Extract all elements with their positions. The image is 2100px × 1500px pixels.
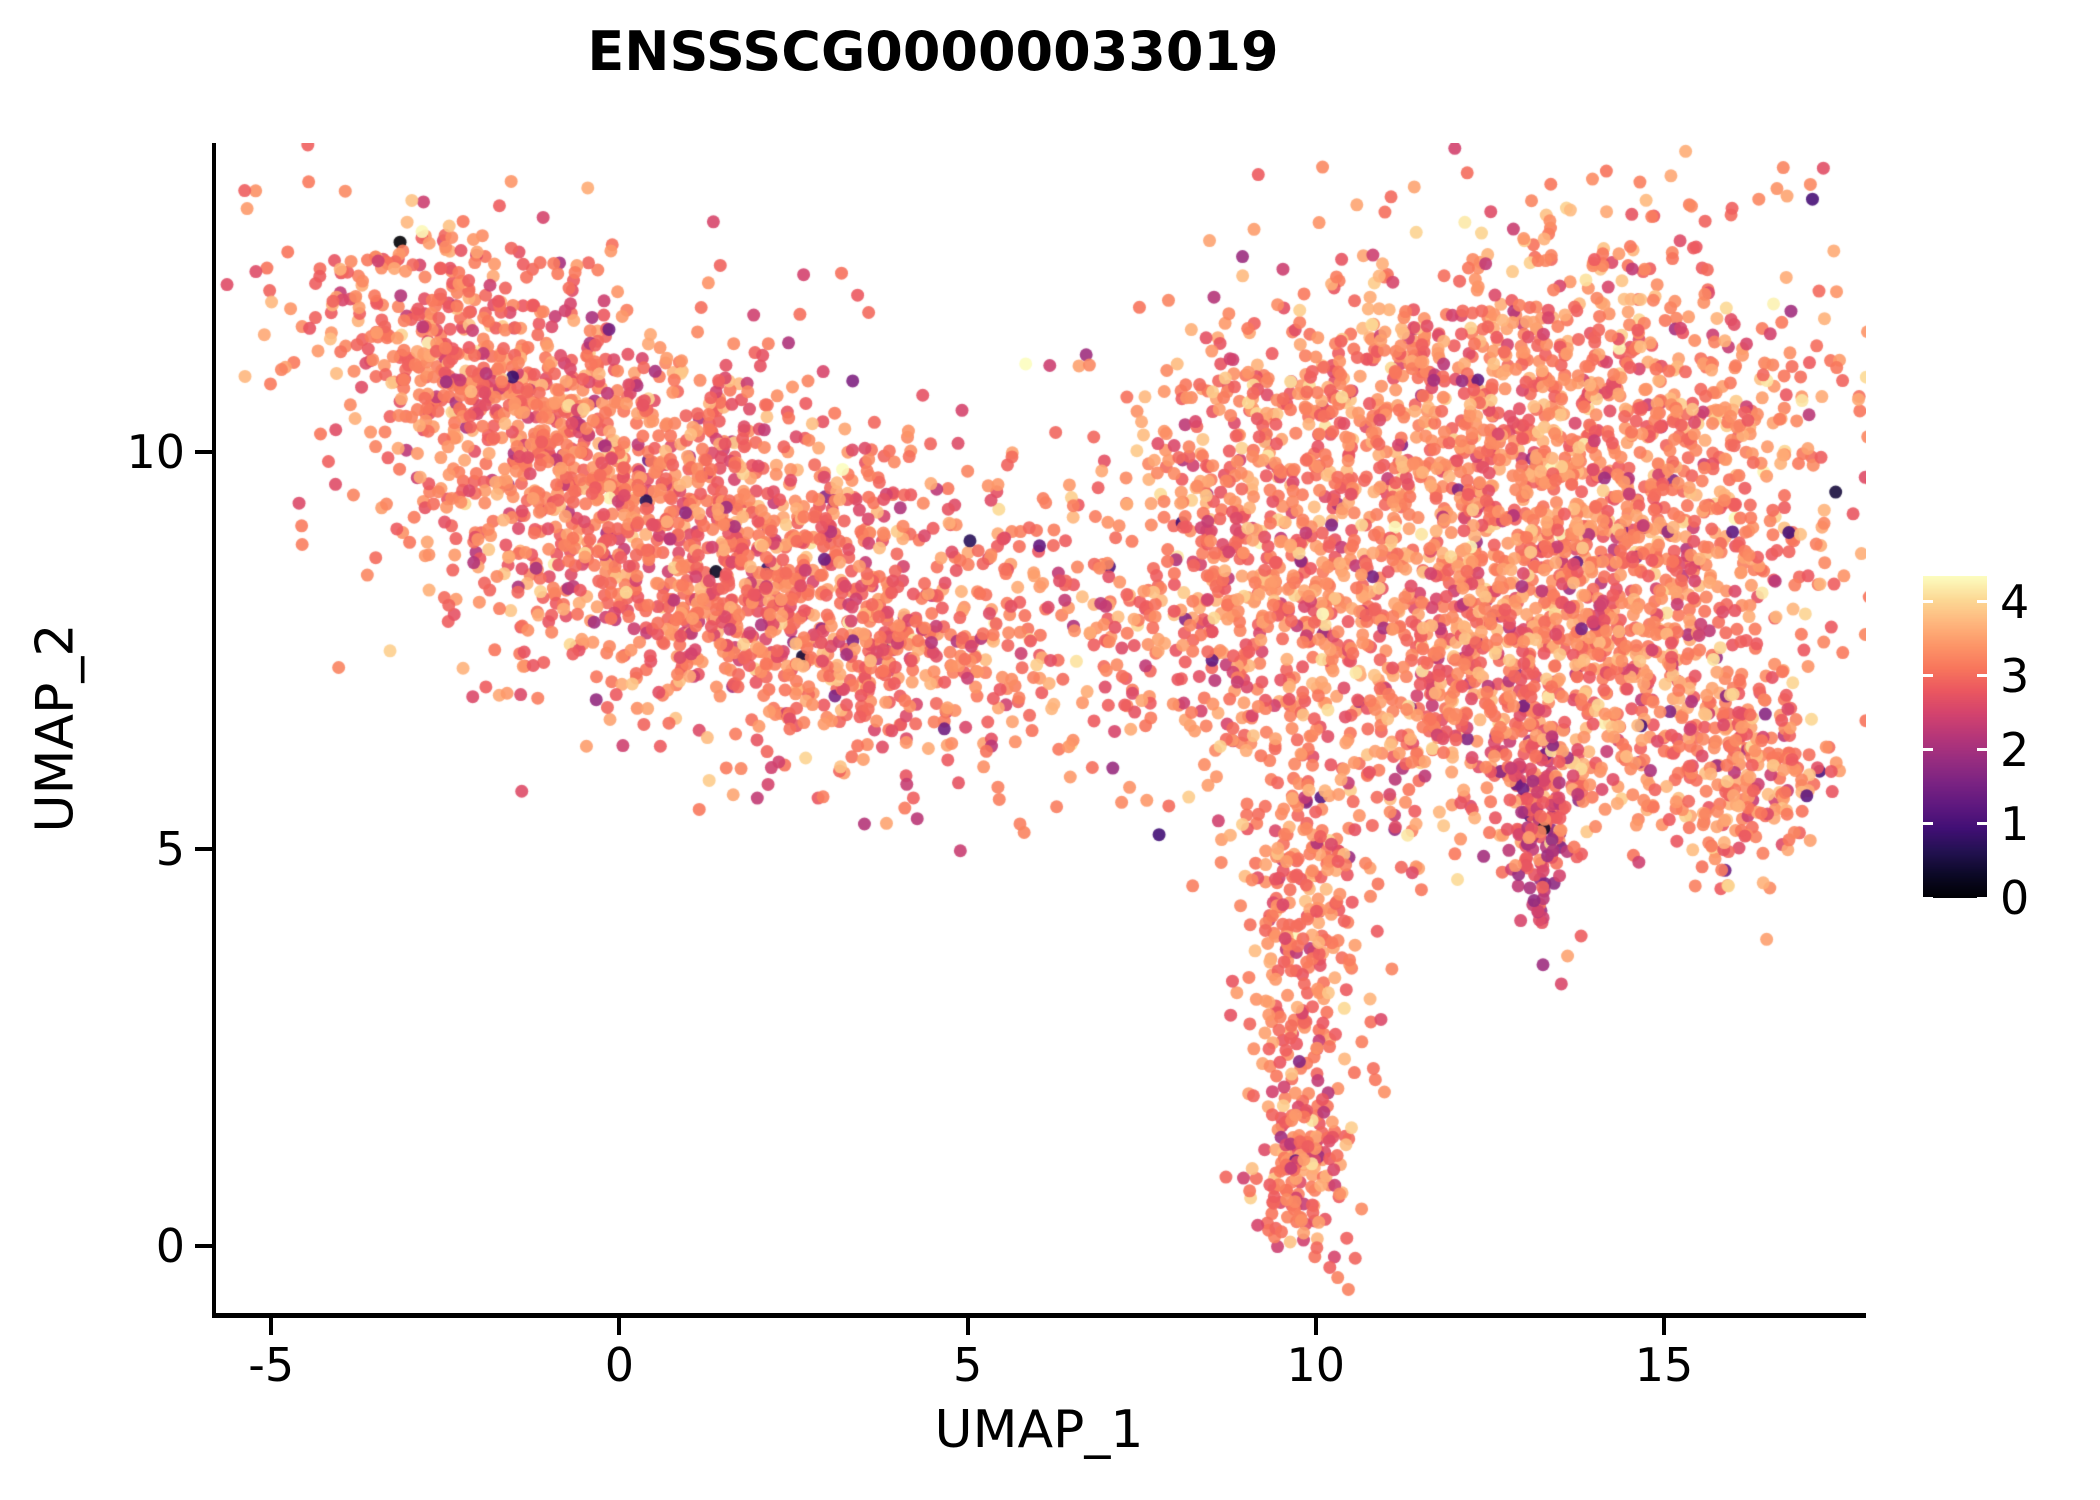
colorbar-gradient	[1923, 576, 1987, 898]
y-tick-label: 5	[156, 824, 185, 874]
y-tick-label: 10	[126, 427, 185, 477]
colorbar-tick-mark	[1977, 822, 1987, 825]
x-tick-label: 0	[605, 1337, 634, 1393]
page-title: ENSSSCG00000033019	[0, 20, 1866, 84]
x-axis-label: UMAP_1	[212, 1400, 1866, 1460]
colorbar-tick-mark	[1923, 748, 1933, 751]
colorbar[interactable]	[1923, 576, 1987, 898]
x-tick-label: -5	[248, 1337, 294, 1393]
colorbar-tick-label: 4	[2000, 577, 2029, 627]
colorbar-tick-mark	[1977, 674, 1987, 677]
y-tick-mark	[195, 1244, 212, 1248]
colorbar-tick-mark	[1923, 600, 1933, 603]
x-axis-spine	[212, 1313, 1866, 1318]
colorbar-tick-mark	[1977, 748, 1987, 751]
scatter-plot-area[interactable]	[212, 143, 1866, 1313]
x-tick-label: 15	[1635, 1337, 1694, 1393]
colorbar-tick-mark	[1923, 897, 1933, 900]
y-tick-mark	[195, 450, 212, 454]
x-tick-label: 5	[953, 1337, 982, 1393]
x-tick-mark	[269, 1318, 273, 1335]
colorbar-tick-mark	[1977, 600, 1987, 603]
x-tick-mark	[1662, 1318, 1666, 1335]
colorbar-tick-mark	[1923, 822, 1933, 825]
colorbar-tick-mark	[1977, 897, 1987, 900]
y-axis-label: UMAP_2	[0, 143, 110, 1313]
x-tick-mark	[966, 1318, 970, 1335]
y-tick-mark	[195, 847, 212, 851]
colorbar-tick-label: 1	[2000, 799, 2029, 849]
colorbar-tick-mark	[1923, 674, 1933, 677]
colorbar-tick-label: 0	[2000, 873, 2029, 923]
colorbar-tick-label: 2	[2000, 725, 2029, 775]
figure-canvas: ENSSSCG00000033019 -5051015 0510 UMAP_1 …	[0, 0, 2100, 1500]
y-tick-label: 0	[156, 1221, 185, 1271]
y-axis-label-text: UMAP_2	[25, 624, 85, 833]
x-tick-label: 10	[1287, 1337, 1346, 1393]
x-tick-mark	[1314, 1318, 1318, 1335]
y-axis-spine	[212, 143, 216, 1318]
x-tick-mark	[617, 1318, 621, 1335]
colorbar-tick-label: 3	[2000, 651, 2029, 701]
